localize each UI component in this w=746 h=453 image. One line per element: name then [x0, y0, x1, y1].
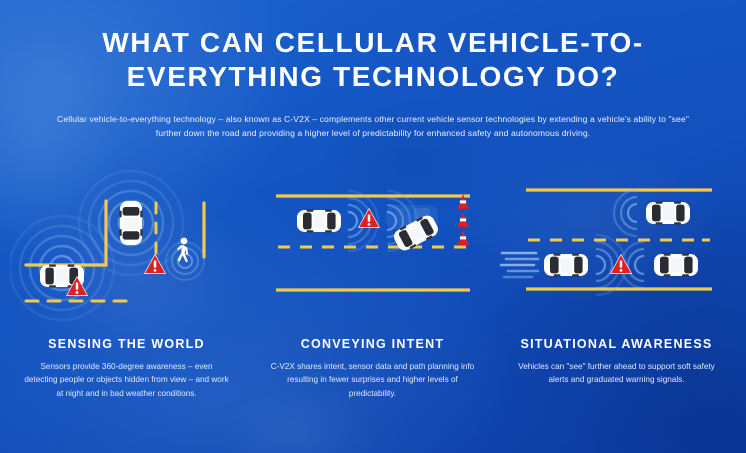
traffic-cone: [457, 230, 468, 245]
car-vertical: [119, 201, 142, 245]
car-ahead: [654, 253, 698, 276]
page-title: WHAT CAN CELLULAR VEHICLE-TO- EVERYTHING…: [0, 26, 746, 94]
car-leading: [297, 209, 341, 232]
page-title-line-2: EVERYTHING TECHNOLOGY DO?: [0, 60, 746, 94]
illustration-intersection: [10, 165, 243, 325]
panel-heading: CONVEYING INTENT: [256, 337, 489, 351]
panel-conveying-intent: CONVEYING INTENT C-V2X shares intent, se…: [256, 165, 489, 435]
car-upper-lane: [646, 201, 690, 224]
traffic-cone: [457, 212, 468, 227]
car-approaching-fast: [544, 253, 588, 276]
intersection-scene-svg: [10, 165, 243, 325]
panel-heading: SITUATIONAL AWARENESS: [500, 337, 733, 351]
illustration-lane-change: [256, 165, 489, 325]
panel-body: Vehicles can "see" further ahead to supp…: [500, 360, 733, 387]
panel-body: Sensors provide 360-degree awareness – e…: [10, 360, 243, 400]
page-subtitle: Cellular vehicle-to-everything technolog…: [46, 112, 700, 140]
speed-lines: [500, 253, 538, 277]
infographic-poster: WHAT CAN CELLULAR VEHICLE-TO- EVERYTHING…: [0, 0, 746, 453]
lane-change-scene-svg: [256, 165, 489, 325]
panel-heading: SENSING THE WORLD: [10, 337, 243, 351]
signal-arcs-upper-car: [614, 190, 637, 236]
panel-body: C-V2X shares intent, sensor data and pat…: [256, 360, 489, 400]
three-cars-scene-svg: [500, 165, 733, 325]
illustration-three-cars: [500, 165, 733, 325]
panel-sensing-the-world: SENSING THE WORLD Sensors provide 360-de…: [10, 165, 243, 435]
panel-situational-awareness: SITUATIONAL AWARENESS Vehicles can "see"…: [500, 165, 733, 435]
page-title-line-1: WHAT CAN CELLULAR VEHICLE-TO-: [0, 26, 746, 60]
